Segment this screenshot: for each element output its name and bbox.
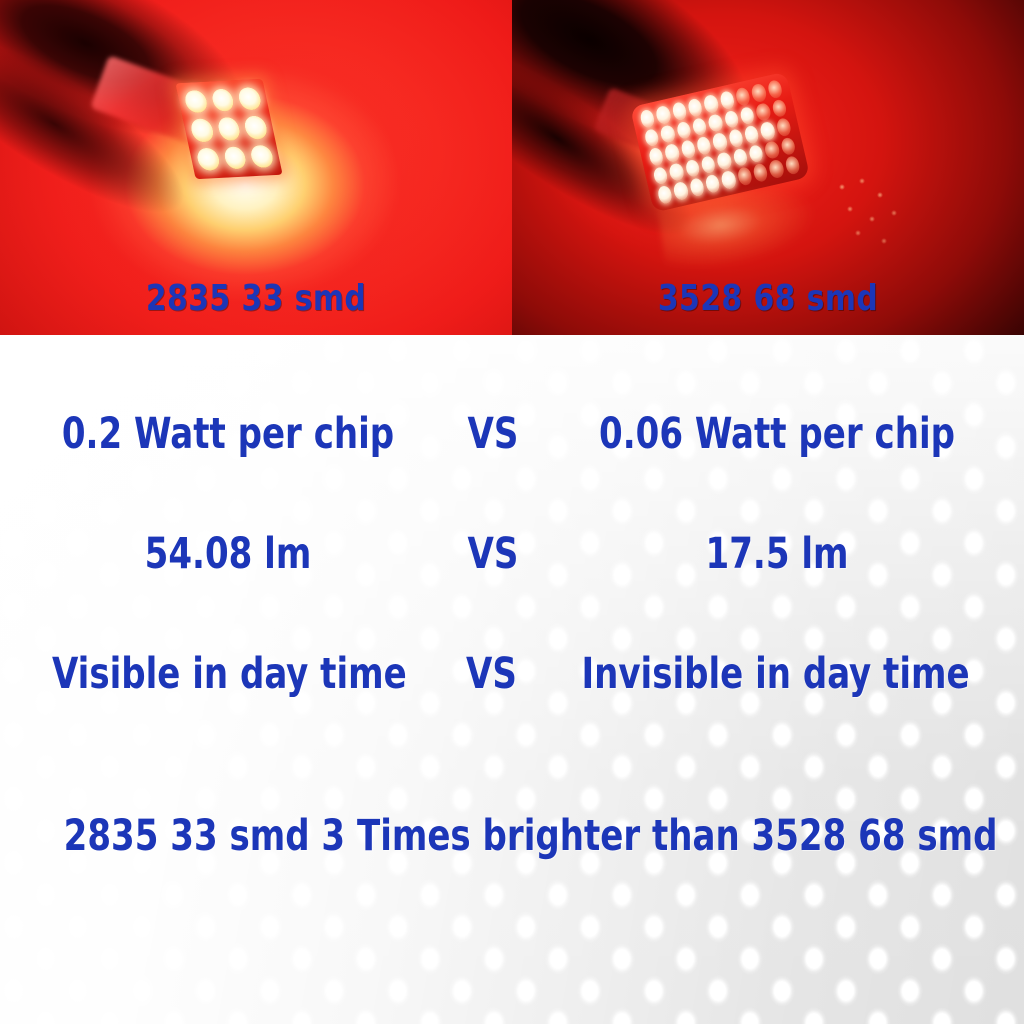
led-dot xyxy=(652,166,669,186)
led-dot xyxy=(675,120,692,140)
led-dot xyxy=(643,128,660,148)
led-chip xyxy=(189,118,215,142)
summary-row: 2835 33 smd 3 Times brighter than 3528 6… xyxy=(0,815,1024,858)
led-dot xyxy=(704,174,721,194)
vs-label-visibility: VS xyxy=(436,653,548,696)
led-dot xyxy=(755,102,772,122)
spec-left-wattage: 0.2 Watt per chip xyxy=(52,413,404,456)
led-dot xyxy=(736,166,753,186)
led-chip xyxy=(195,147,221,171)
led-dot xyxy=(684,158,701,178)
spec-right-wattage: 0.06 Watt per chip xyxy=(584,413,969,456)
led-dot xyxy=(707,113,724,133)
product-comparison-image: 2835 33 smd xyxy=(0,0,1024,1024)
spec-row-visibility: Visible in day time VS Invisible in day … xyxy=(28,653,996,773)
photo-strip: 2835 33 smd xyxy=(0,0,1024,335)
led-dot xyxy=(732,147,749,167)
led-dot xyxy=(648,147,665,167)
led-dot xyxy=(748,144,765,164)
led-chip xyxy=(183,90,209,114)
led-dot xyxy=(680,139,697,159)
led-dot xyxy=(664,143,681,163)
led-dot xyxy=(750,83,767,103)
led-dot xyxy=(735,86,752,106)
spec-comparison-panel: 0.2 Watt per chip VS 0.06 Watt per chip … xyxy=(0,335,1024,1024)
led-dot xyxy=(700,155,717,175)
spec-row-lumens: 54.08 lm VS 17.5 lm xyxy=(28,533,996,653)
led-chip xyxy=(243,116,269,140)
led-dot xyxy=(768,159,785,179)
spec-right-lumens: 17.5 lm xyxy=(584,533,969,576)
led-light-speckles xyxy=(832,175,922,265)
led-dot xyxy=(716,151,733,171)
led-dot xyxy=(759,121,776,141)
vs-label-lumens: VS xyxy=(436,533,550,576)
led-dot xyxy=(743,125,760,145)
spec-rows: 0.2 Watt per chip VS 0.06 Watt per chip … xyxy=(0,335,1024,1024)
led-dot xyxy=(752,163,769,183)
photo-caption-2835: 2835 33 smd xyxy=(20,278,491,319)
led-chip xyxy=(210,88,236,112)
led-chip xyxy=(222,146,248,170)
spec-left-visibility: Visible in day time xyxy=(52,653,404,696)
led-chip xyxy=(216,117,242,141)
led-dot xyxy=(671,101,688,121)
led-dot xyxy=(639,108,656,128)
led-dot xyxy=(696,136,713,156)
led-dot xyxy=(687,97,704,117)
spec-left-lumens: 54.08 lm xyxy=(52,533,404,576)
photo-2835-bulb: 2835 33 smd xyxy=(0,0,512,335)
photo-caption-3528: 3528 68 smd xyxy=(532,278,1003,319)
led-dot xyxy=(703,94,720,114)
led-dot xyxy=(723,109,740,129)
led-dot xyxy=(719,90,736,110)
led-dot xyxy=(691,116,708,136)
vs-label-wattage: VS xyxy=(436,413,550,456)
led-dot xyxy=(689,177,706,197)
summary-statement: 2835 33 smd 3 Times brighter than 3528 6… xyxy=(64,815,998,858)
led-chip xyxy=(249,144,275,168)
led-dot xyxy=(727,128,744,148)
led-dot xyxy=(655,105,672,125)
led-dot xyxy=(720,170,737,190)
led-dot xyxy=(739,105,756,125)
spec-right-visibility: Invisible in day time xyxy=(581,653,969,696)
led-dot xyxy=(668,162,685,182)
led-dot xyxy=(659,124,676,144)
photo-3528-bulb: 3528 68 smd xyxy=(512,0,1024,335)
led-dot xyxy=(764,140,781,160)
led-dot xyxy=(712,132,729,152)
spec-row-wattage: 0.2 Watt per chip VS 0.06 Watt per chip xyxy=(28,413,996,533)
